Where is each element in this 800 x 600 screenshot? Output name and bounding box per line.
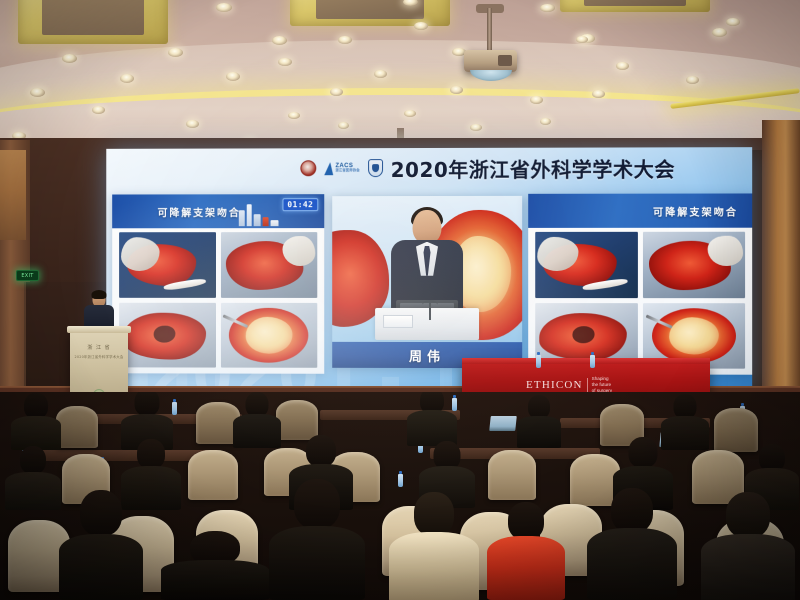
water-bottle: [536, 355, 541, 368]
audience-body: [487, 536, 565, 600]
downlight: [330, 88, 343, 96]
downlight: [540, 118, 551, 125]
downlight: [374, 70, 387, 78]
podium-microphone-icon: [429, 302, 431, 320]
audience-head: [137, 439, 165, 469]
audience-member: [268, 478, 366, 600]
zacs-mark-icon: [324, 162, 333, 175]
ceiling-coffer-left: [18, 0, 168, 44]
presenter-head: [413, 210, 442, 244]
slide-right-photo-grid: [535, 232, 745, 369]
downlight: [168, 48, 183, 57]
audience-chair: [188, 450, 238, 500]
lectern-sub-text: 2020年浙江省外科学学术大会: [75, 354, 124, 359]
attendee-red-puffer-jacket: [486, 496, 566, 600]
water-bottle: [398, 474, 403, 487]
screen-header: ZACS 浙江省医师协会 2020年浙江省外科学学术大会: [106, 147, 752, 188]
audience-body: [161, 560, 269, 600]
audience-member: [160, 542, 270, 600]
surgical-photo-gloved-hands: [119, 232, 215, 297]
audience-body: [269, 526, 365, 600]
downlight: [338, 36, 352, 44]
attendee-cream-coat: [388, 488, 480, 600]
audience-head: [294, 479, 340, 529]
lectern-logo-text: 浙 江 省: [87, 344, 110, 351]
brand-tagline-1: Shaping: [592, 376, 609, 381]
downlight: [404, 110, 416, 117]
audience-head: [135, 392, 160, 416]
slide-left-photo-grid: [119, 232, 317, 368]
panel-table-top: [462, 358, 710, 364]
audience-member: [516, 398, 562, 448]
led-presentation-screen: 2020 ZACS 浙江省医师协会 2020年浙江省外科学学术大会 可降解支架吻…: [106, 147, 752, 394]
surgical-photo-open-field: [220, 232, 317, 297]
ethicon-brand-name: ETHICON: [526, 379, 583, 391]
surgical-photo-cross-section: [220, 302, 317, 367]
downlight: [272, 36, 287, 45]
audience-member: [4, 448, 62, 510]
brand-tagline-2: the future: [592, 382, 611, 387]
downlight: [226, 72, 240, 81]
downlight: [450, 86, 463, 94]
audience-head: [306, 435, 336, 467]
downlight: [686, 76, 699, 84]
audience-member: [58, 490, 144, 600]
ceiling-coffer-right: [560, 0, 710, 12]
surgical-photo-open-field: [642, 232, 745, 298]
ceiling-projector: [464, 50, 517, 72]
conference-hall-photo: EXIT 2020 ZACS 浙江省医师协会: [0, 0, 800, 600]
presenter-podium: [375, 308, 479, 340]
audience-member: [10, 396, 62, 450]
audience-body: [59, 534, 143, 600]
audience-head: [246, 392, 269, 417]
slide-left-banner-decoration: [239, 200, 285, 226]
audience-head: [24, 393, 48, 419]
audience-body: [587, 528, 677, 600]
lectern-top: [67, 326, 131, 333]
audience-body: [233, 414, 281, 448]
audience-member: [232, 394, 282, 448]
downlight: [592, 90, 605, 98]
audience-body: [517, 416, 561, 448]
slide-panel-left: 可降解支架吻合 01:42: [112, 194, 324, 374]
downlight: [186, 120, 199, 128]
ceiling-coffer-mid: [290, 0, 450, 26]
projector-pole: [487, 8, 492, 52]
audience-chair: [276, 400, 318, 440]
slide-right-banner-text: 可降解支架吻合: [653, 203, 738, 218]
downlight: [120, 74, 134, 83]
brand-divider: [587, 378, 588, 393]
speaker-name: 周伟: [409, 345, 445, 364]
audience-body: [389, 532, 479, 600]
audience-laptop: [489, 416, 517, 431]
downlight: [92, 106, 105, 114]
audience-head: [629, 437, 658, 468]
audience-body: [5, 472, 61, 510]
audience-body: [701, 534, 795, 600]
audience-body: [11, 416, 61, 450]
slide-left-banner: 可降解支架吻合 01:42: [112, 194, 324, 228]
conference-title: 2020年浙江省外科学学术大会: [391, 153, 675, 183]
downlight: [278, 58, 292, 66]
audience-head: [611, 488, 653, 533]
slide-left-banner-text: 可降解支架吻合: [158, 204, 241, 219]
downlight: [414, 22, 428, 30]
downlight: [470, 124, 482, 131]
downlight: [616, 62, 629, 70]
podium-nameplate: [383, 315, 413, 328]
audience-head: [508, 502, 544, 540]
audience-member: [406, 392, 458, 446]
slide-right-banner: 可降解支架吻合: [528, 193, 752, 227]
surgical-photo-bowel: [119, 302, 215, 367]
downlight: [726, 18, 740, 26]
downlight: [30, 88, 45, 97]
zacs-logo-icon: ZACS 浙江省医师协会: [324, 162, 359, 175]
zacs-logo-sublabel: 浙江省医师协会: [335, 169, 359, 172]
surgical-photo-gloved-hands: [535, 232, 637, 298]
audience-head: [80, 490, 122, 536]
downlight: [288, 112, 300, 119]
ceiling: [0, 0, 800, 152]
downlight: [712, 28, 727, 37]
audience-head: [20, 446, 46, 474]
audience-member: [700, 492, 796, 600]
audience-head: [674, 394, 697, 419]
slide-panel-right: 可降解支架吻合: [528, 193, 752, 374]
exit-sign-label: EXIT: [21, 273, 33, 279]
downlight: [62, 54, 77, 63]
downlight: [216, 3, 232, 12]
water-bottle: [590, 355, 595, 368]
presentation-timer: 01:42: [282, 198, 318, 211]
downlight: [540, 4, 555, 12]
shield-crest-logo-icon: [368, 159, 383, 177]
audience-head: [414, 492, 454, 536]
audience-head: [726, 492, 770, 538]
audience-chair: [488, 450, 536, 500]
audience-member: [586, 484, 678, 600]
exit-sign-icon: EXIT: [16, 270, 39, 281]
live-video-feed: 周伟: [332, 196, 522, 368]
audience-chair: [56, 406, 98, 448]
audience-area: [0, 392, 800, 600]
wall-left-wood-panel: [0, 150, 26, 240]
downlight: [338, 122, 349, 129]
downlight: [530, 96, 543, 104]
downlight: [576, 36, 588, 43]
red-seal-logo-icon: [301, 160, 317, 176]
